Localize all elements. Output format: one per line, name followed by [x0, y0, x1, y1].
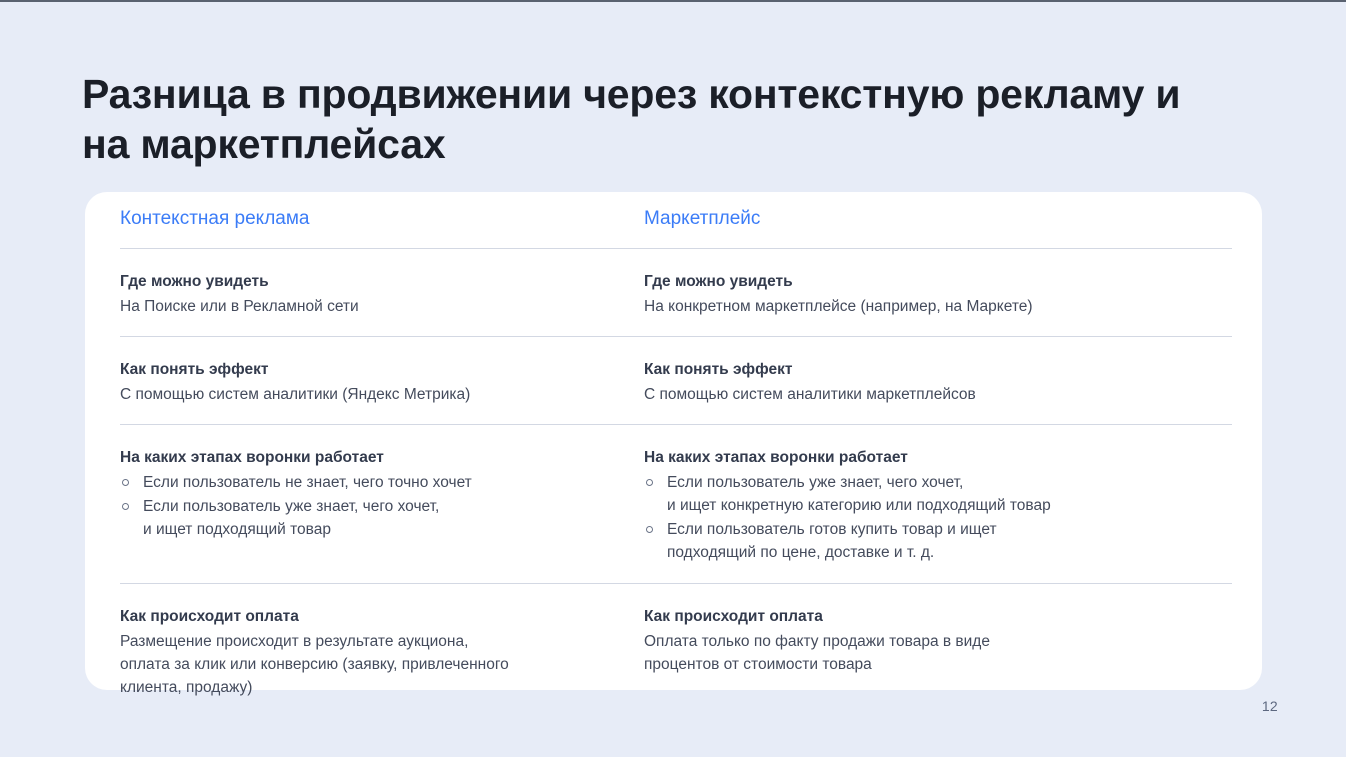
cell-funnel-stages-right: На каких этапах воронки работает Если по…: [644, 425, 1232, 583]
cell-text: Размещение происходит в результате аукци…: [120, 630, 644, 699]
cell-title: Где можно увидеть: [644, 270, 1232, 293]
cell-title: Как происходит оплата: [644, 605, 1232, 628]
cell-payment-left: Как происходит оплата Размещение происхо…: [120, 584, 644, 721]
circle-bullet-icon: [122, 479, 129, 486]
cell-title: На каких этапах воронки работает: [644, 446, 1232, 469]
cell-title: Как происходит оплата: [120, 605, 644, 628]
page-number: 12: [1262, 698, 1278, 714]
table-row: Как происходит оплата Размещение происхо…: [120, 584, 1232, 721]
bullet-list: Если пользователь уже знает, чего хочет,…: [644, 471, 1232, 564]
cell-how-to-measure-left: Как понять эффект С помощью систем анали…: [120, 337, 644, 424]
list-item-label: Если пользователь уже знает, чего хочет,…: [667, 474, 1051, 514]
table-row: На каких этапах воронки работает Если по…: [120, 425, 1232, 583]
table-row: Где можно увидеть На Поиске или в Реклам…: [120, 249, 1232, 336]
cell-title: Где можно увидеть: [120, 270, 644, 293]
cell-title: Как понять эффект: [120, 358, 644, 381]
list-item-label: Если пользователь не знает, чего точно х…: [143, 474, 472, 491]
bullet-list: Если пользователь не знает, чего точно х…: [120, 471, 644, 541]
list-item: Если пользователь уже знает, чего хочет,…: [644, 471, 1232, 517]
comparison-table: Контекстная реклама Маркетплейс Где можн…: [120, 192, 1232, 690]
cell-funnel-stages-left: На каких этапах воронки работает Если по…: [120, 425, 644, 583]
column-header-marketplace: Маркетплейс: [644, 206, 1232, 232]
circle-bullet-icon: [122, 503, 129, 510]
cell-where-to-see-right: Где можно увидеть На конкретном маркетпл…: [644, 249, 1232, 336]
column-header-context-ads: Контекстная реклама: [120, 206, 644, 232]
list-item: Если пользователь уже знает, чего хочет,…: [120, 495, 644, 541]
circle-bullet-icon: [646, 526, 653, 533]
cell-text: На конкретном маркетплейсе (например, на…: [644, 295, 1232, 318]
list-item: Если пользователь готов купить товар и и…: [644, 518, 1232, 564]
slide-canvas: Разница в продвижении через контекстную …: [0, 0, 1346, 757]
table-header-row: Контекстная реклама Маркетплейс: [120, 192, 1232, 248]
cell-text: На Поиске или в Рекламной сети: [120, 295, 644, 318]
cell-title: На каких этапах воронки работает: [120, 446, 644, 469]
cell-text: Оплата только по факту продажи товара в …: [644, 630, 1232, 676]
list-item-label: Если пользователь уже знает, чего хочет,…: [143, 498, 439, 538]
comparison-card: Контекстная реклама Маркетплейс Где можн…: [85, 192, 1262, 690]
list-item-label: Если пользователь готов купить товар и и…: [667, 521, 997, 561]
circle-bullet-icon: [646, 479, 653, 486]
cell-text: С помощью систем аналитики маркетплейсов: [644, 383, 1232, 406]
cell-title: Как понять эффект: [644, 358, 1232, 381]
cell-payment-right: Как происходит оплата Оплата только по ф…: [644, 584, 1232, 721]
list-item: Если пользователь не знает, чего точно х…: [120, 471, 644, 494]
cell-how-to-measure-right: Как понять эффект С помощью систем анали…: [644, 337, 1232, 424]
cell-text: С помощью систем аналитики (Яндекс Метри…: [120, 383, 644, 406]
cell-where-to-see-left: Где можно увидеть На Поиске или в Реклам…: [120, 249, 644, 336]
page-title: Разница в продвижении через контекстную …: [82, 69, 1192, 169]
table-row: Как понять эффект С помощью систем анали…: [120, 337, 1232, 424]
